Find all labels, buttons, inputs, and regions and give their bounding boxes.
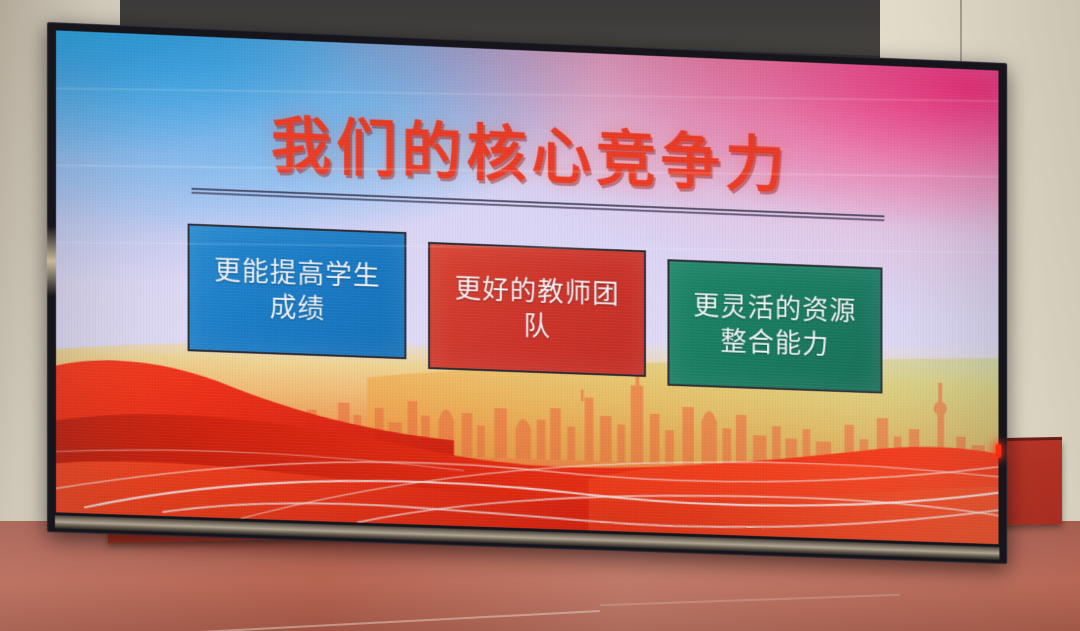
led-screen-surface[interactable]: 我们的核心竞争力 更能提高学生成绩 更好的教师团队 更灵活的资源整合能力 [56,30,998,544]
led-scanlines [56,30,998,544]
led-power-indicator [996,444,1002,458]
room-scene: 我们的核心竞争力 更能提高学生成绩 更好的教师团队 更灵活的资源整合能力 [0,0,1080,631]
bezel-highlight [47,226,56,296]
led-video-wall[interactable]: 我们的核心竞争力 更能提高学生成绩 更好的教师团队 更灵活的资源整合能力 [47,22,1007,564]
